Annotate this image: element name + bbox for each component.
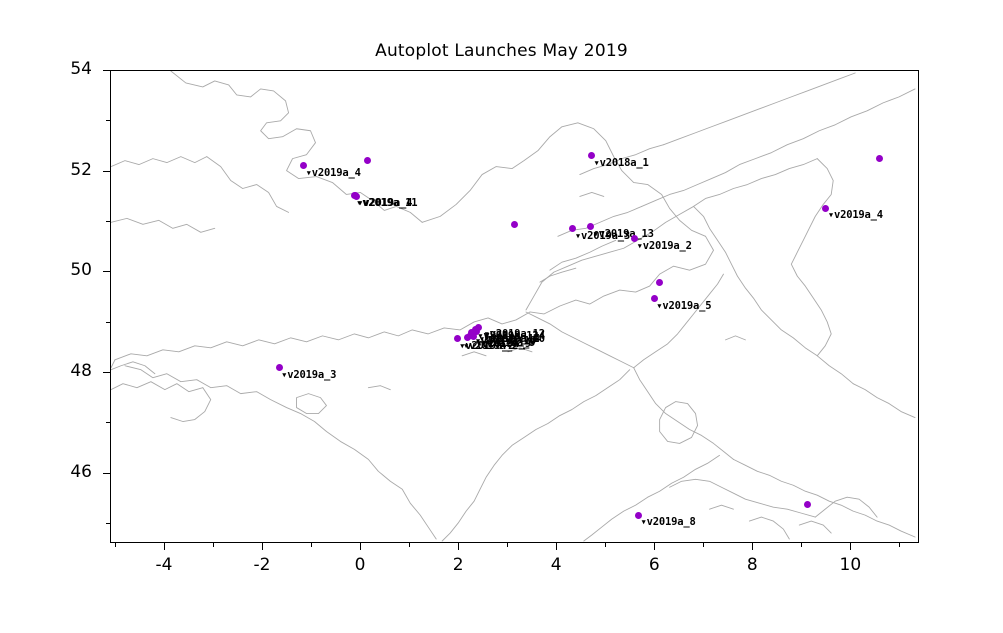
launch-marker[interactable]: [876, 155, 883, 162]
launch-marker[interactable]: [804, 501, 811, 508]
x-axis-minor-tick: [899, 543, 900, 547]
y-axis-tick-label: 46: [32, 462, 92, 482]
x-axis-tick-label: 0: [330, 555, 390, 575]
launch-marker[interactable]: [353, 193, 360, 200]
y-axis-tick-label: 48: [32, 361, 92, 381]
launch-marker-label: ▾v2019a_5: [656, 300, 711, 312]
x-axis-major-tick: [360, 543, 361, 550]
launch-marker-label: ▾v2019a_13: [592, 228, 653, 240]
x-axis-tick-label: 8: [722, 555, 782, 575]
coastline-map: [111, 71, 918, 542]
y-axis-tick-label: 54: [32, 59, 92, 79]
x-axis-minor-tick: [311, 543, 312, 547]
x-axis-tick-label: 10: [820, 555, 880, 575]
x-axis-minor-tick: [801, 543, 802, 547]
x-axis-tick-label: 2: [428, 555, 488, 575]
y-axis-major-tick: [103, 171, 110, 172]
launch-marker-label: ▾v2019a_2: [637, 240, 692, 252]
y-axis-minor-tick: [106, 523, 110, 524]
launch-marker[interactable]: [656, 279, 663, 286]
x-axis-major-tick: [164, 543, 165, 550]
y-axis-major-tick: [103, 271, 110, 272]
x-axis-minor-tick: [703, 543, 704, 547]
y-axis-major-tick: [103, 473, 110, 474]
x-axis-major-tick: [262, 543, 263, 550]
x-axis-tick-label: -2: [232, 555, 292, 575]
x-axis-minor-tick: [213, 543, 214, 547]
y-axis-minor-tick: [106, 322, 110, 323]
y-axis-major-tick: [103, 70, 110, 71]
x-axis-major-tick: [654, 543, 655, 550]
x-axis-minor-tick: [409, 543, 410, 547]
y-axis-major-tick: [103, 372, 110, 373]
x-axis-minor-tick: [605, 543, 606, 547]
launch-marker-label: ▾v2019a_4: [828, 209, 883, 221]
launch-marker-label: ▾v2019a_3: [281, 369, 336, 381]
x-axis-tick-label: -4: [134, 555, 194, 575]
x-axis-minor-tick: [115, 543, 116, 547]
y-axis-tick-label: 52: [32, 160, 92, 180]
launch-marker-label: ▾v2019a_9: [480, 337, 535, 349]
x-axis-tick-label: 6: [624, 555, 684, 575]
x-axis-tick-label: 4: [526, 555, 586, 575]
launch-marker-label: ▾v2019a_4: [357, 197, 412, 209]
x-axis-major-tick: [752, 543, 753, 550]
launch-marker[interactable]: [511, 221, 518, 228]
y-axis-minor-tick: [106, 422, 110, 423]
launch-marker-label: ▾v2018a_1: [593, 157, 648, 169]
figure-canvas: Autoplot Launches May 2019: [0, 0, 1003, 633]
x-axis-major-tick: [850, 543, 851, 550]
launch-marker[interactable]: [364, 157, 371, 164]
x-axis-minor-tick: [507, 543, 508, 547]
launch-marker-label: ▾v2019a_4: [306, 167, 361, 179]
y-axis-minor-tick: [106, 120, 110, 121]
x-axis-major-tick: [556, 543, 557, 550]
y-axis-minor-tick: [106, 221, 110, 222]
y-axis-tick-label: 50: [32, 260, 92, 280]
page-title: Autoplot Launches May 2019: [0, 41, 1003, 61]
launch-marker-label: ▾v2019a_8: [641, 516, 696, 528]
map-plot-area[interactable]: [110, 70, 919, 543]
x-axis-major-tick: [458, 543, 459, 550]
